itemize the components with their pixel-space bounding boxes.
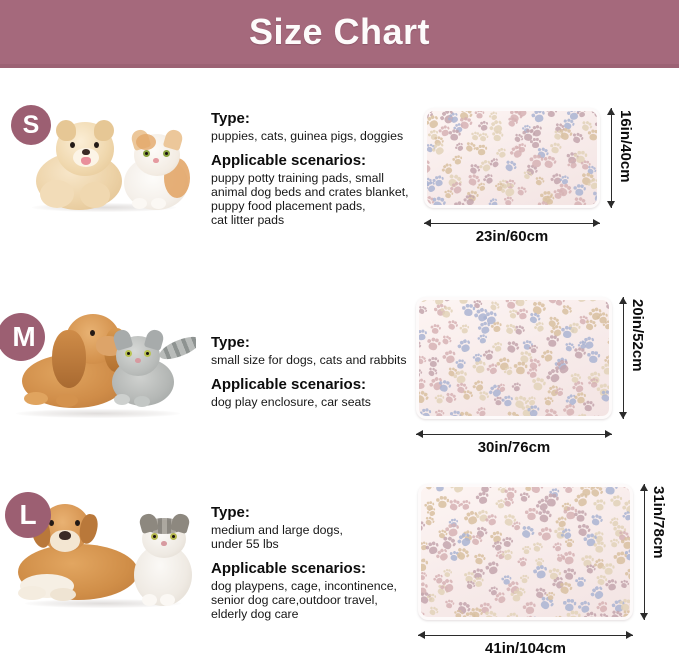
paw-print bbox=[544, 493, 559, 507]
paw-print bbox=[444, 599, 455, 609]
paw-print bbox=[537, 526, 554, 543]
paw-print bbox=[513, 324, 526, 336]
paw-print bbox=[433, 487, 447, 493]
scenarios-text-s: puppy potty training pads, small animal … bbox=[211, 171, 426, 227]
paw-print bbox=[503, 158, 519, 173]
paw-print bbox=[476, 145, 488, 156]
paw-print bbox=[478, 132, 489, 142]
height-dimension-line-s bbox=[604, 108, 618, 208]
scenarios-text-m: dog play enclosure, car seats bbox=[211, 395, 426, 409]
paw-print bbox=[544, 195, 555, 205]
paw-print bbox=[546, 111, 558, 117]
paw-print bbox=[520, 575, 529, 583]
header-band: Size Chart bbox=[0, 0, 679, 64]
paw-print bbox=[562, 487, 574, 493]
paw-print bbox=[461, 389, 474, 402]
paw-print bbox=[576, 111, 587, 119]
paw-print bbox=[570, 131, 584, 145]
paw-print bbox=[522, 546, 531, 554]
paw-print bbox=[428, 605, 440, 617]
paw-print bbox=[554, 387, 565, 398]
paw-print bbox=[529, 155, 543, 168]
paw-print bbox=[560, 550, 576, 566]
paw-print bbox=[561, 403, 576, 416]
paw-print bbox=[552, 541, 564, 552]
type-text-s: puppies, cats, guinea pigs, doggies bbox=[211, 129, 426, 143]
paw-print bbox=[516, 142, 528, 153]
scenarios-text-l: dog playpens, cage, incontinence, senior… bbox=[211, 579, 426, 621]
type-heading-s: Type: bbox=[211, 110, 426, 128]
orange-cat-illustration bbox=[118, 130, 190, 212]
paw-pattern-l bbox=[421, 487, 630, 617]
paw-print bbox=[472, 577, 484, 588]
paw-print bbox=[419, 354, 427, 366]
grey-tabby-cat-illustration bbox=[108, 330, 196, 410]
paw-print bbox=[609, 538, 620, 548]
paw-print bbox=[519, 524, 536, 541]
paw-print bbox=[475, 491, 490, 505]
paw-print bbox=[527, 615, 542, 617]
paw-print bbox=[525, 508, 538, 520]
paw-print bbox=[590, 413, 606, 416]
page-title: Size Chart bbox=[249, 14, 430, 50]
size-badge-l-label: L bbox=[19, 499, 36, 531]
pet-pad-l bbox=[418, 484, 633, 620]
paw-print bbox=[585, 300, 600, 303]
width-label-m: 30in/76cm bbox=[416, 439, 612, 456]
type-text-l: medium and large dogs, under 55 lbs bbox=[211, 523, 426, 551]
pet-pad-s bbox=[424, 108, 600, 208]
paw-print bbox=[591, 111, 597, 118]
paw-print bbox=[565, 539, 574, 547]
pad-surface-s bbox=[427, 111, 597, 205]
paw-pattern-m bbox=[419, 300, 609, 416]
paw-print bbox=[537, 508, 553, 523]
paw-print bbox=[522, 170, 533, 180]
paw-print bbox=[619, 579, 630, 589]
paw-print bbox=[571, 195, 588, 205]
size-badge-l: L bbox=[5, 492, 51, 538]
paw-print bbox=[572, 184, 585, 196]
paw-print bbox=[541, 154, 557, 169]
paw-print bbox=[586, 350, 600, 363]
paw-print bbox=[593, 499, 606, 511]
height-label-m: 20in/52cm bbox=[629, 299, 646, 372]
paw-print bbox=[419, 388, 430, 405]
pad-illustration-m bbox=[416, 297, 612, 419]
paw-print bbox=[605, 333, 609, 349]
paw-print bbox=[577, 413, 588, 416]
paw-print bbox=[593, 200, 597, 205]
paw-print bbox=[531, 111, 547, 123]
paw-print bbox=[446, 319, 459, 332]
scenarios-heading-m: Applicable scenarios: bbox=[211, 376, 426, 394]
paw-print bbox=[515, 185, 527, 197]
paw-pattern-s bbox=[427, 111, 597, 205]
paw-print bbox=[491, 321, 504, 333]
type-heading-m: Type: bbox=[211, 334, 426, 352]
paw-print bbox=[549, 142, 562, 154]
height-dimension-line-m bbox=[616, 297, 630, 419]
paw-print bbox=[546, 335, 559, 347]
paw-print bbox=[487, 197, 499, 205]
paw-print bbox=[501, 548, 514, 560]
scenarios-heading-l: Applicable scenarios: bbox=[211, 560, 426, 578]
paw-print bbox=[528, 344, 537, 353]
type-text-m: small size for dogs, cats and rabbits bbox=[211, 353, 426, 367]
paw-print bbox=[602, 319, 609, 330]
paw-print bbox=[507, 613, 519, 617]
scenarios-heading-s: Applicable scenarios: bbox=[211, 152, 426, 170]
paw-print bbox=[513, 361, 527, 374]
paw-print bbox=[575, 510, 588, 521]
size-details-m: Type: small size for dogs, cats and rabb… bbox=[211, 334, 426, 409]
paw-print bbox=[439, 306, 453, 319]
paw-print bbox=[491, 130, 504, 142]
paw-print bbox=[542, 407, 560, 416]
width-label-s: 23in/60cm bbox=[424, 228, 600, 245]
size-badge-m-label: M bbox=[6, 321, 35, 353]
size-details-l: Type: medium and large dogs, under 55 lb… bbox=[211, 504, 426, 621]
paw-print bbox=[589, 513, 604, 527]
paw-print bbox=[568, 322, 581, 334]
paw-print bbox=[477, 334, 488, 345]
paw-print bbox=[434, 409, 444, 416]
paw-print bbox=[484, 514, 498, 528]
width-label-l: 41in/104cm bbox=[418, 640, 633, 657]
paw-print bbox=[430, 324, 442, 335]
pad-illustration-s bbox=[424, 108, 600, 208]
paw-print bbox=[583, 400, 596, 412]
height-label-s: 16in/40cm bbox=[617, 110, 634, 183]
height-label-l: 31in/78cm bbox=[650, 486, 667, 559]
paw-print bbox=[421, 611, 426, 617]
paw-print bbox=[602, 487, 618, 495]
paw-print bbox=[531, 541, 543, 553]
paw-print bbox=[543, 396, 554, 407]
paw-print bbox=[448, 129, 461, 142]
paw-print bbox=[504, 196, 515, 205]
paw-print bbox=[419, 304, 429, 315]
paw-print bbox=[533, 175, 545, 186]
paw-print bbox=[440, 334, 453, 347]
height-dimension-line-l bbox=[637, 484, 651, 620]
paw-print bbox=[621, 537, 630, 549]
paw-print bbox=[587, 129, 597, 141]
paw-print bbox=[585, 563, 597, 575]
paw-print bbox=[421, 558, 429, 572]
paw-print bbox=[427, 157, 433, 175]
paw-print bbox=[425, 336, 441, 351]
paw-print bbox=[459, 324, 470, 334]
paw-print bbox=[552, 614, 566, 617]
paw-print bbox=[522, 601, 537, 615]
paw-print bbox=[419, 378, 427, 390]
paw-print bbox=[426, 507, 437, 518]
paw-print bbox=[419, 368, 422, 378]
paw-print bbox=[419, 408, 433, 416]
paw-print bbox=[528, 405, 541, 416]
paw-print bbox=[483, 415, 496, 416]
size-row-s: S Type: puppies, cats, guinea pigs, dogg… bbox=[0, 92, 679, 264]
paw-print bbox=[517, 556, 529, 567]
type-heading-l: Type: bbox=[211, 504, 426, 522]
paw-print bbox=[443, 568, 453, 577]
paw-print bbox=[421, 521, 425, 532]
paw-print bbox=[475, 111, 485, 118]
paw-print bbox=[518, 491, 530, 502]
paw-print bbox=[605, 578, 619, 592]
paw-print bbox=[451, 155, 462, 166]
paw-print bbox=[546, 592, 555, 600]
paw-print bbox=[593, 541, 606, 553]
paw-print bbox=[566, 611, 581, 617]
paw-print bbox=[484, 561, 500, 576]
size-details-s: Type: puppies, cats, guinea pigs, doggie… bbox=[211, 110, 426, 227]
paw-print bbox=[572, 346, 587, 360]
paw-print bbox=[443, 391, 458, 406]
paw-print bbox=[602, 563, 615, 575]
size-row-m: M Type: small size for dogs, cats and ra… bbox=[0, 282, 679, 460]
paw-print bbox=[421, 571, 428, 580]
pad-illustration-l bbox=[418, 484, 633, 620]
paw-print bbox=[501, 537, 513, 548]
paw-print bbox=[604, 413, 609, 416]
paw-print bbox=[621, 510, 630, 522]
paw-print bbox=[456, 338, 473, 354]
tabby-cat-illustration bbox=[130, 514, 196, 608]
paw-print bbox=[602, 363, 609, 375]
paw-print bbox=[505, 339, 521, 355]
size-badge-s: S bbox=[11, 105, 51, 145]
paw-print bbox=[512, 382, 523, 392]
paw-print bbox=[455, 359, 465, 369]
paw-print bbox=[622, 487, 630, 494]
paw-print bbox=[460, 499, 472, 510]
paw-print bbox=[575, 577, 586, 587]
paw-print bbox=[427, 594, 437, 603]
pet-pad-m bbox=[416, 297, 612, 419]
paw-print bbox=[511, 591, 523, 602]
paw-print bbox=[557, 580, 573, 596]
pad-surface-l bbox=[421, 487, 630, 617]
pad-surface-m bbox=[419, 300, 609, 416]
size-badge-s-label: S bbox=[23, 111, 40, 140]
header-underline bbox=[0, 64, 679, 68]
size-row-l: L Type: medium and large dogs, under 55 … bbox=[0, 472, 679, 658]
paw-print bbox=[604, 300, 609, 310]
